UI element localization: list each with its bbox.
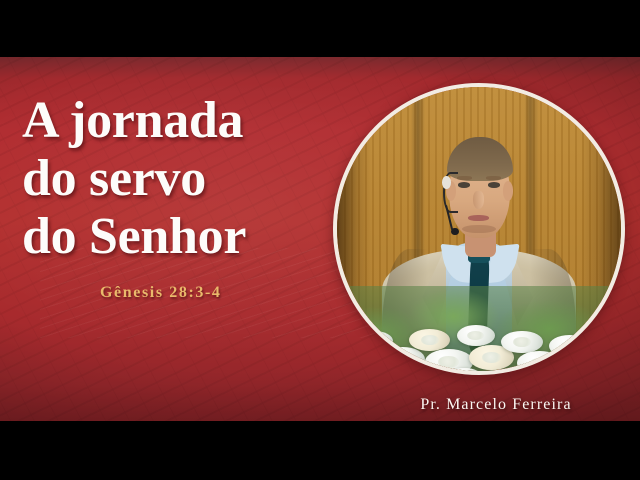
title-line-2: do servo [22,150,342,208]
video-thumbnail: A jornada do servo do Senhor Gênesis 28:… [0,0,640,480]
title-line-1: A jornada [22,92,342,150]
ear-right [503,181,513,201]
title-block: A jornada do servo do Senhor Gênesis 28:… [22,92,342,302]
eyebrow-left [457,176,472,180]
earpiece-icon [442,176,451,189]
rose [457,325,495,346]
rose-bouquet [337,286,621,371]
speaker-portrait [337,87,621,371]
verse-reference: Gênesis 28:3-4 [100,284,342,302]
eye-left [458,182,470,187]
rose [339,359,374,371]
title-line-3: do Senhor [22,208,342,266]
rose [501,331,542,353]
eye-right [488,182,500,187]
letterbox-bottom [0,421,640,480]
letterbox-top [0,0,640,57]
presenter-name: Pr. Marcelo Ferreira [396,396,596,414]
eyebrow-right [486,176,501,180]
microphone-capsule-icon [451,228,458,235]
rose [355,331,393,351]
nose [473,191,483,209]
speaker-portrait-frame [333,83,625,375]
mouth [468,215,489,221]
